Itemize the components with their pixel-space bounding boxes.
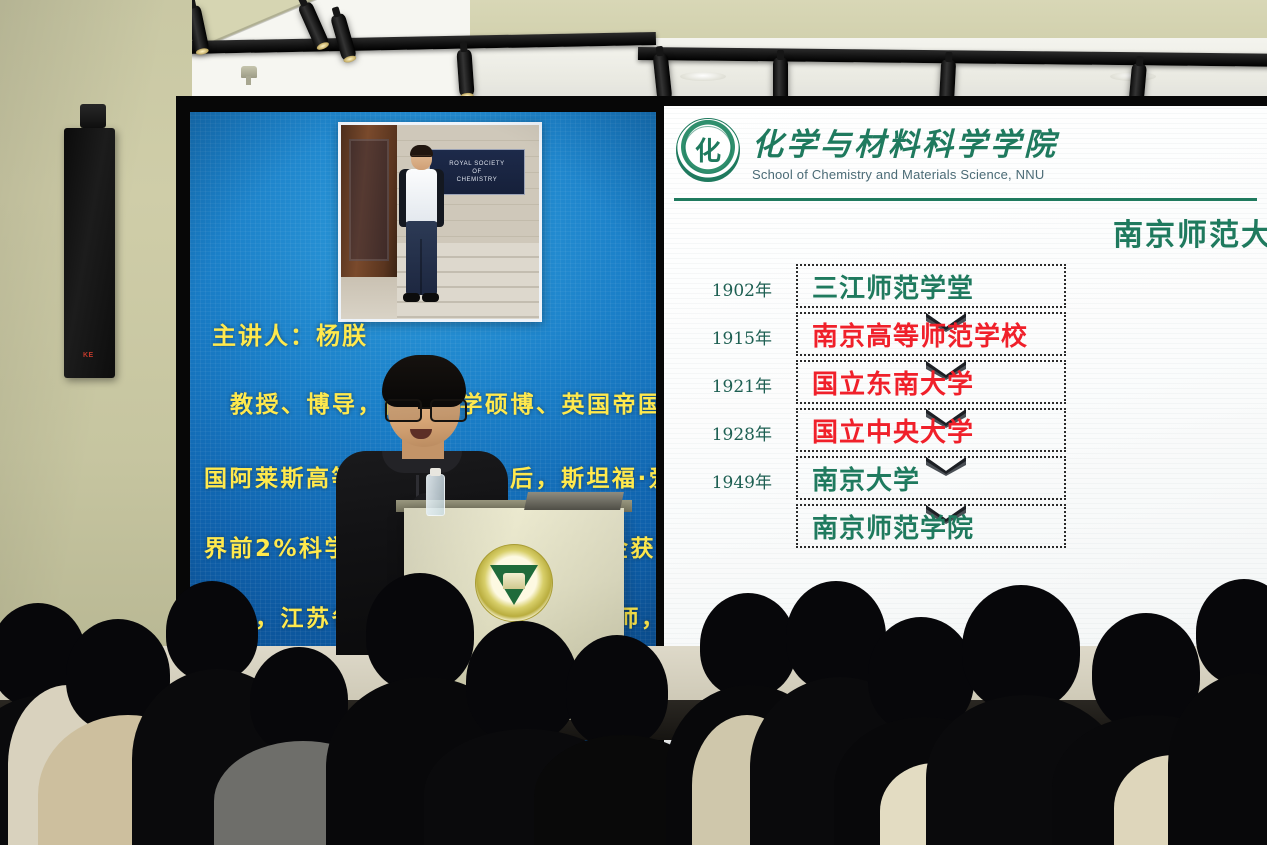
foreground-shadow <box>0 725 1267 845</box>
timeline-name: 南京高等师范学校 <box>812 316 1028 353</box>
timeline-name-box: 国立中央大学 <box>796 408 1066 452</box>
timeline-name: 南京大学 <box>812 460 920 497</box>
timeline-name: 国立中央大学 <box>812 412 974 449</box>
timeline-name: 国立东南大学 <box>812 364 974 401</box>
timeline-year: 1915年 <box>680 324 772 349</box>
university-seal-icon <box>475 544 553 622</box>
school-name-en: School of Chemistry and Materials Scienc… <box>752 167 1058 182</box>
timeline-name-box: 南京师范学院 <box>796 504 1066 548</box>
emblem-glyph: 化 <box>695 131 721 168</box>
timeline-row: 1949年 南京大学 <box>902 454 1267 502</box>
timeline-year: 1928年 <box>680 420 772 445</box>
lecture-hall-photo: KE ROYAL SOCIETY OF CHEMISTRY <box>0 0 1267 845</box>
timeline-name-box: 三江师范学堂 <box>796 264 1066 308</box>
stage-apron <box>0 646 1267 706</box>
school-name-block: 化学与材料科学学院 School of Chemistry and Materi… <box>752 119 1058 182</box>
timeline-year: 1902年 <box>680 276 772 301</box>
slide-header: 化 化学与材料科学学院 School of Chemistry and Mate… <box>664 106 1267 194</box>
ceiling-sprinkler-icon <box>241 66 257 78</box>
timeline-name: 三江师范学堂 <box>812 268 974 305</box>
school-emblem-icon: 化 <box>676 118 740 182</box>
water-bottle <box>426 474 445 516</box>
speaker-bracket <box>80 104 106 128</box>
header-divider <box>674 198 1257 201</box>
wall-speaker: KE <box>64 128 115 378</box>
recessed-downlight-icon <box>680 72 726 81</box>
timeline-name-box: 南京大学 <box>796 456 1066 500</box>
laptop-on-lectern <box>524 492 624 510</box>
timeline-row: 1921年 国立东南大学 <box>902 358 1267 406</box>
eyeglasses-icon <box>385 399 465 419</box>
timeline-name: 南京师范学院 <box>812 508 974 545</box>
track-spotlight-icon <box>456 50 474 97</box>
slide-title: 南京师范大 <box>1113 210 1267 254</box>
timeline-row: 1928年 国立中央大学 <box>902 406 1267 454</box>
speaker-brand-label: KE <box>83 352 94 359</box>
school-name-cn: 化学与材料科学学院 <box>752 119 1058 164</box>
lectern-base <box>416 650 612 720</box>
timeline-row: 1902年 三江师范学堂 <box>902 262 1267 310</box>
timeline-year: 1921年 <box>680 372 772 397</box>
timeline-row: 1915年 南京高等师范学校 <box>902 310 1267 358</box>
lectern <box>404 508 624 653</box>
timeline-name-box: 国立东南大学 <box>796 360 1066 404</box>
timeline-year: 1949年 <box>680 468 772 493</box>
timeline-name-box: 南京高等师范学校 <box>796 312 1066 356</box>
history-timeline: 1902年 三江师范学堂 1915年 南京高等师范学校 1921年 <box>902 262 1267 550</box>
timeline-row: 南京师范学院 <box>902 502 1267 550</box>
